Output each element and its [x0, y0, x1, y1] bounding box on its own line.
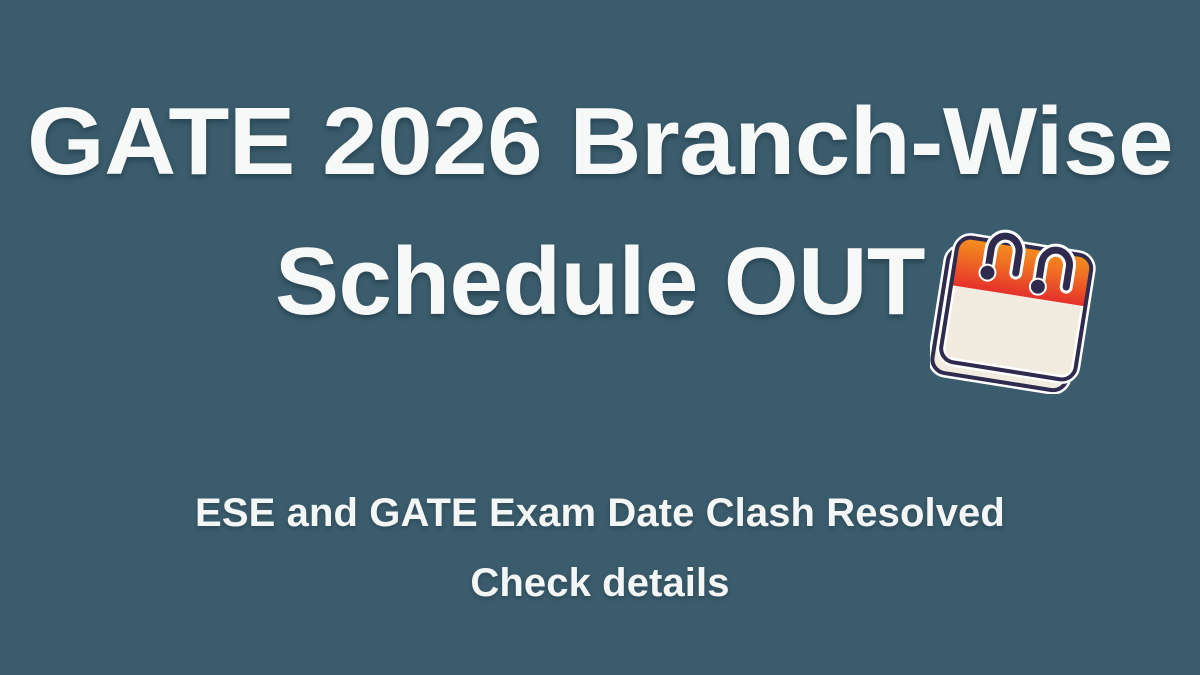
headline-line-1: GATE 2026 Branch-Wise [0, 72, 1200, 212]
subtitle-line-2: Check details [0, 548, 1200, 618]
news-graphic-poster: GATE 2026 Branch-Wise Schedule OUT [0, 0, 1200, 675]
subtitle-line-1: ESE and GATE Exam Date Clash Resolved [0, 478, 1200, 548]
subtitle: ESE and GATE Exam Date Clash Resolved Ch… [0, 478, 1200, 618]
headline-line-2: Schedule OUT [275, 212, 925, 352]
headline: GATE 2026 Branch-Wise Schedule OUT [0, 72, 1200, 352]
